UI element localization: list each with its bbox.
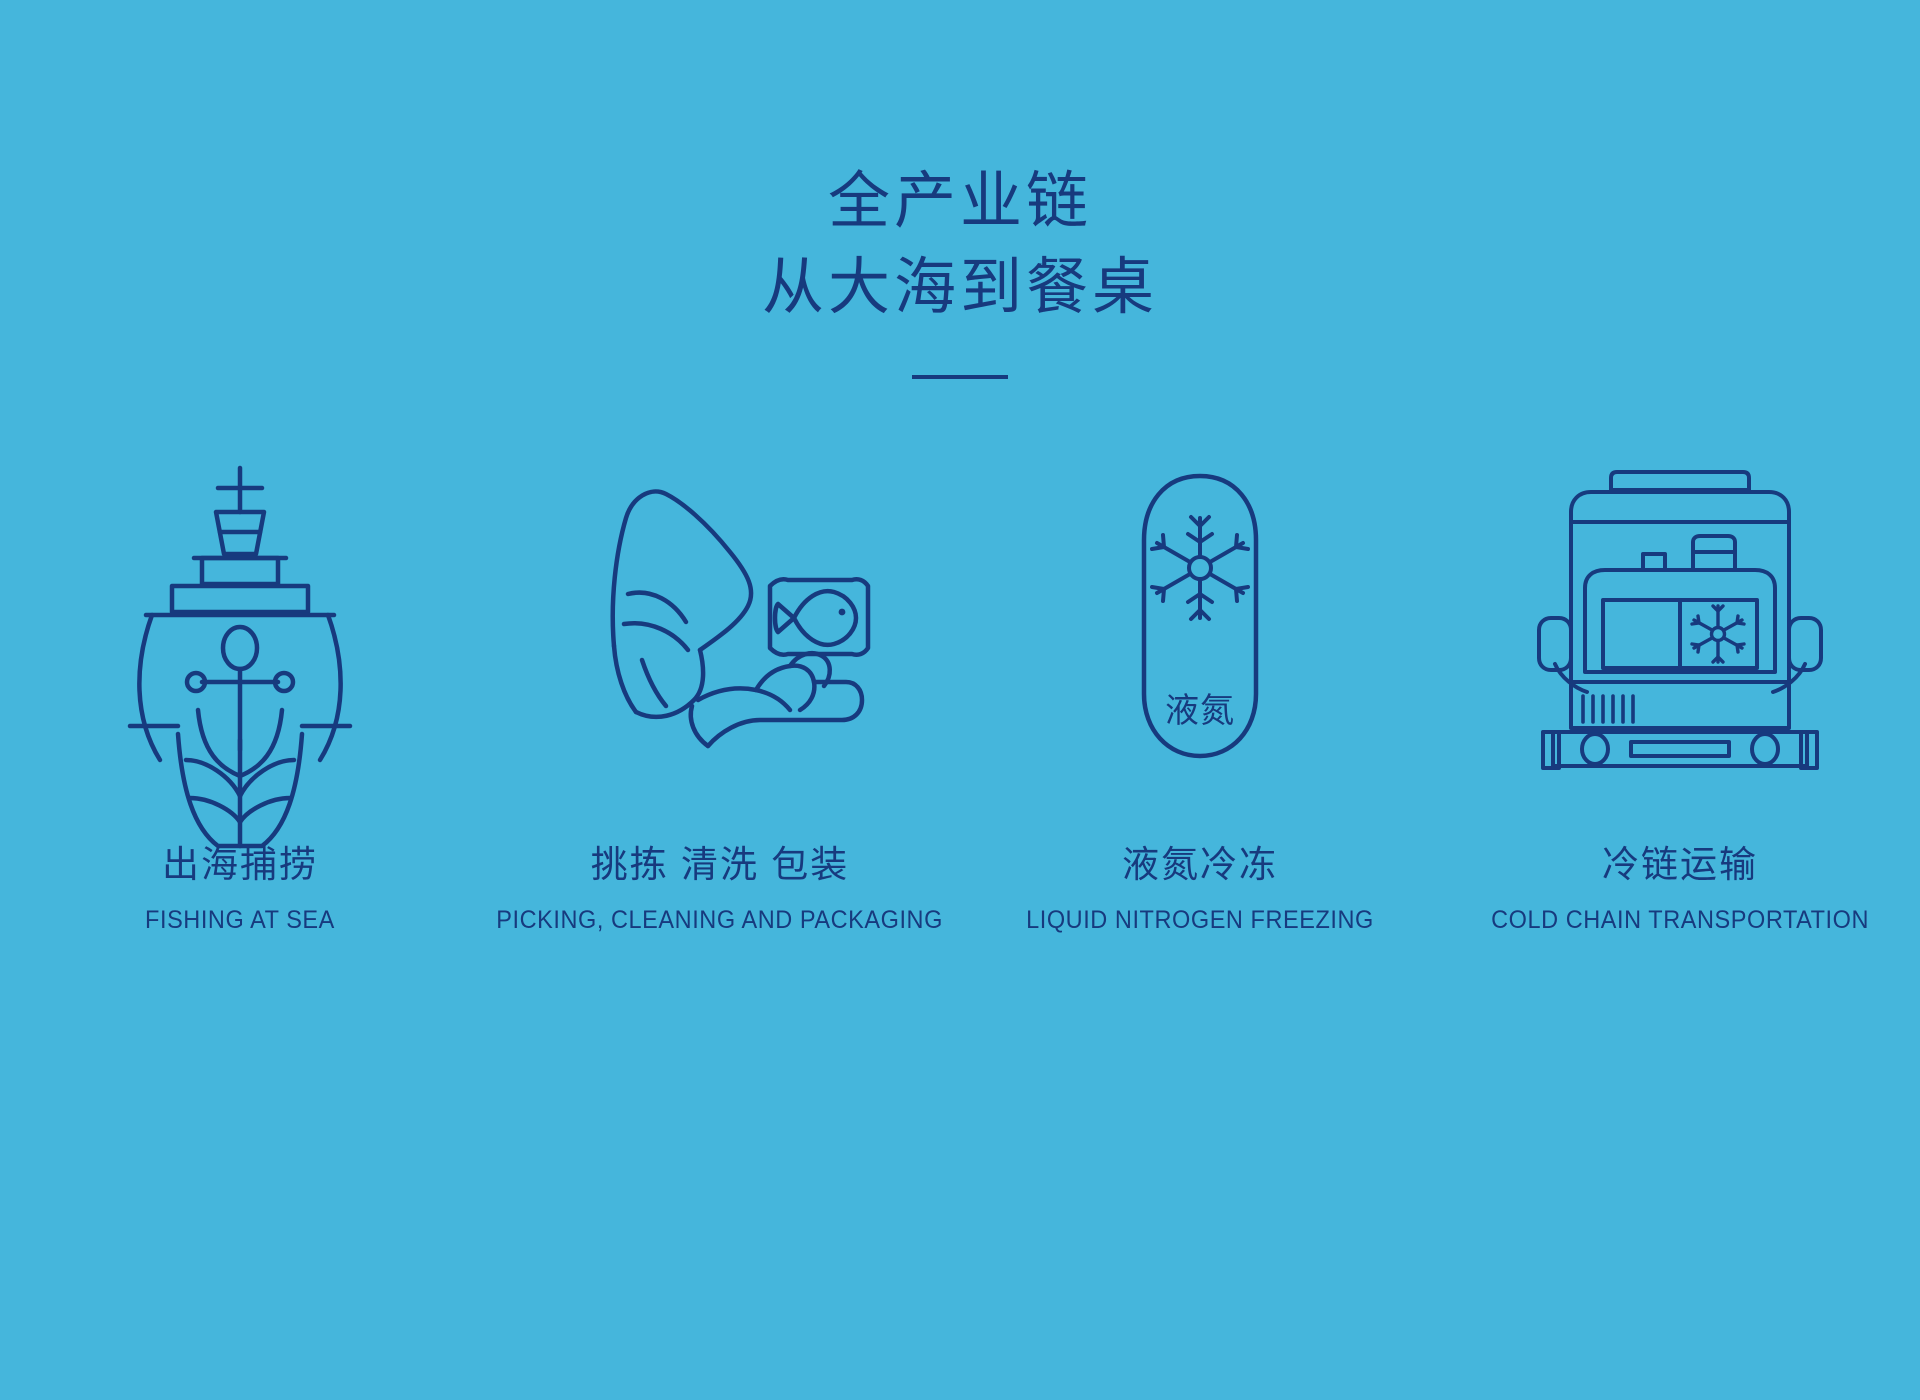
- step-label-cn: 液氮冷冻: [1122, 834, 1278, 888]
- fishing-boat-icon-box: [90, 430, 390, 770]
- page-title-line-1: 全产业链: [0, 160, 1920, 246]
- process-step-picking-cleaning-packaging[interactable]: 挑拣 清洗 包装 PICKING, CLEANING AND PACKAGING: [480, 430, 960, 935]
- page-title-line-2: 从大海到餐桌: [0, 246, 1920, 332]
- process-step-cold-chain-transportation[interactable]: 冷链运输 COLD CHAIN TRANSPORTATION: [1440, 430, 1920, 935]
- snowflake-icon: [1152, 517, 1248, 619]
- liquid-nitrogen-label: 液氮: [1165, 692, 1235, 730]
- hands-sorting-packaging-icon-box: [570, 430, 870, 770]
- grille-lines-icon: [1583, 696, 1633, 722]
- step-label-cn: 冷链运输: [1602, 834, 1758, 888]
- step-label-cn: 出海捕捞: [162, 834, 318, 888]
- process-step-liquid-nitrogen-freezing[interactable]: 液氮 液氮冷冻 LIQUID NITROGEN FREEZING: [960, 430, 1440, 935]
- fishing-boat-icon: [90, 460, 390, 770]
- infographic-page: 全产业链 从大海到餐桌: [0, 0, 1920, 1400]
- process-steps-row: 出海捕捞 FISHING AT SEA: [0, 430, 1920, 935]
- step-label-en: FISHING AT SEA: [145, 906, 335, 935]
- process-step-fishing-at-sea[interactable]: 出海捕捞 FISHING AT SEA: [0, 430, 480, 935]
- cold-chain-truck-icon-box: [1525, 430, 1835, 770]
- fish-package-icon: [770, 579, 868, 655]
- title-divider: [912, 375, 1008, 379]
- step-label-cn: 挑拣 清洗 包装: [591, 834, 850, 888]
- step-label-en: LIQUID NITROGEN FREEZING: [1026, 906, 1374, 935]
- step-label-en: PICKING, CLEANING AND PACKAGING: [497, 906, 944, 935]
- step-label-en: COLD CHAIN TRANSPORTATION: [1491, 906, 1869, 935]
- liquid-nitrogen-icon-box: 液氮: [1050, 430, 1350, 770]
- liquid-nitrogen-freezing-icon: 液氮: [1050, 460, 1350, 770]
- page-header: 全产业链 从大海到餐桌: [0, 0, 1920, 379]
- snowflake-icon: [1692, 606, 1744, 662]
- hands-sorting-packaging-icon: [570, 460, 870, 770]
- cold-chain-truck-icon: [1525, 460, 1835, 770]
